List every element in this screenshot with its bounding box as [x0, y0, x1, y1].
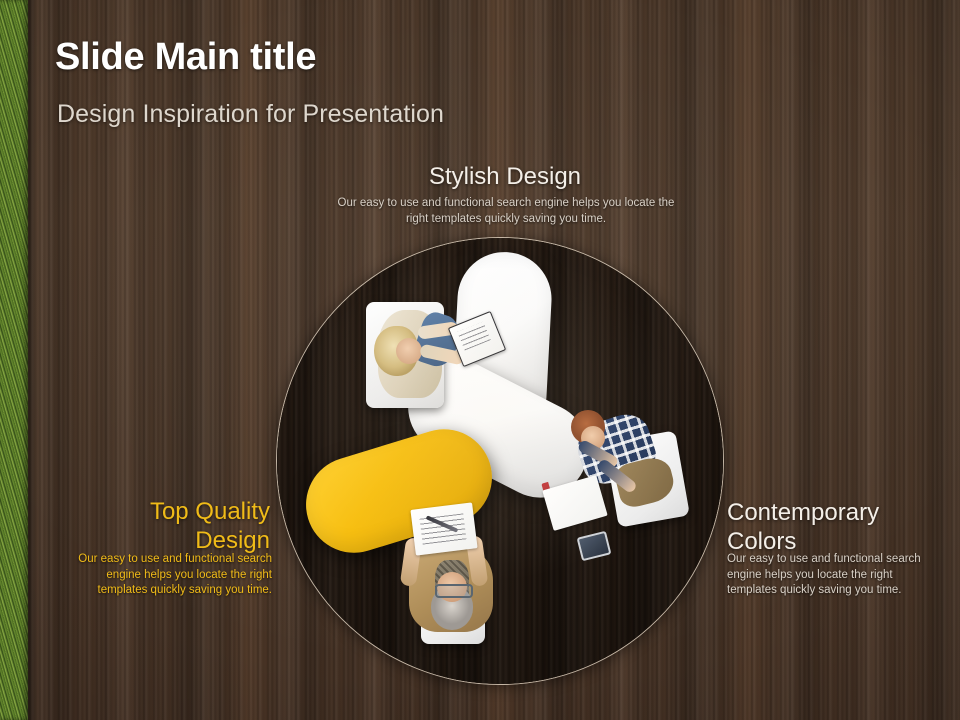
photo-lighting-overlay — [277, 238, 723, 684]
presentation-slide: Slide Main title Design Inspiration for … — [0, 0, 960, 720]
page-title: Slide Main title — [55, 36, 316, 79]
section-body-top-quality-design: Our easy to use and functional search en… — [68, 552, 272, 599]
grass-strip-shadow — [28, 0, 38, 720]
grass-edge-strip — [0, 0, 28, 720]
section-heading-stylish-design: Stylish Design — [335, 162, 675, 191]
section-heading-contemporary-colors: Contemporary Colors — [727, 498, 927, 556]
section-heading-top-quality-design: Top Quality Design — [70, 497, 270, 555]
section-body-stylish-design: Our easy to use and functional search en… — [330, 196, 682, 227]
section-body-contemporary-colors: Our easy to use and functional search en… — [727, 552, 927, 599]
circular-photo — [276, 237, 724, 685]
page-subtitle: Design Inspiration for Presentation — [57, 100, 444, 129]
